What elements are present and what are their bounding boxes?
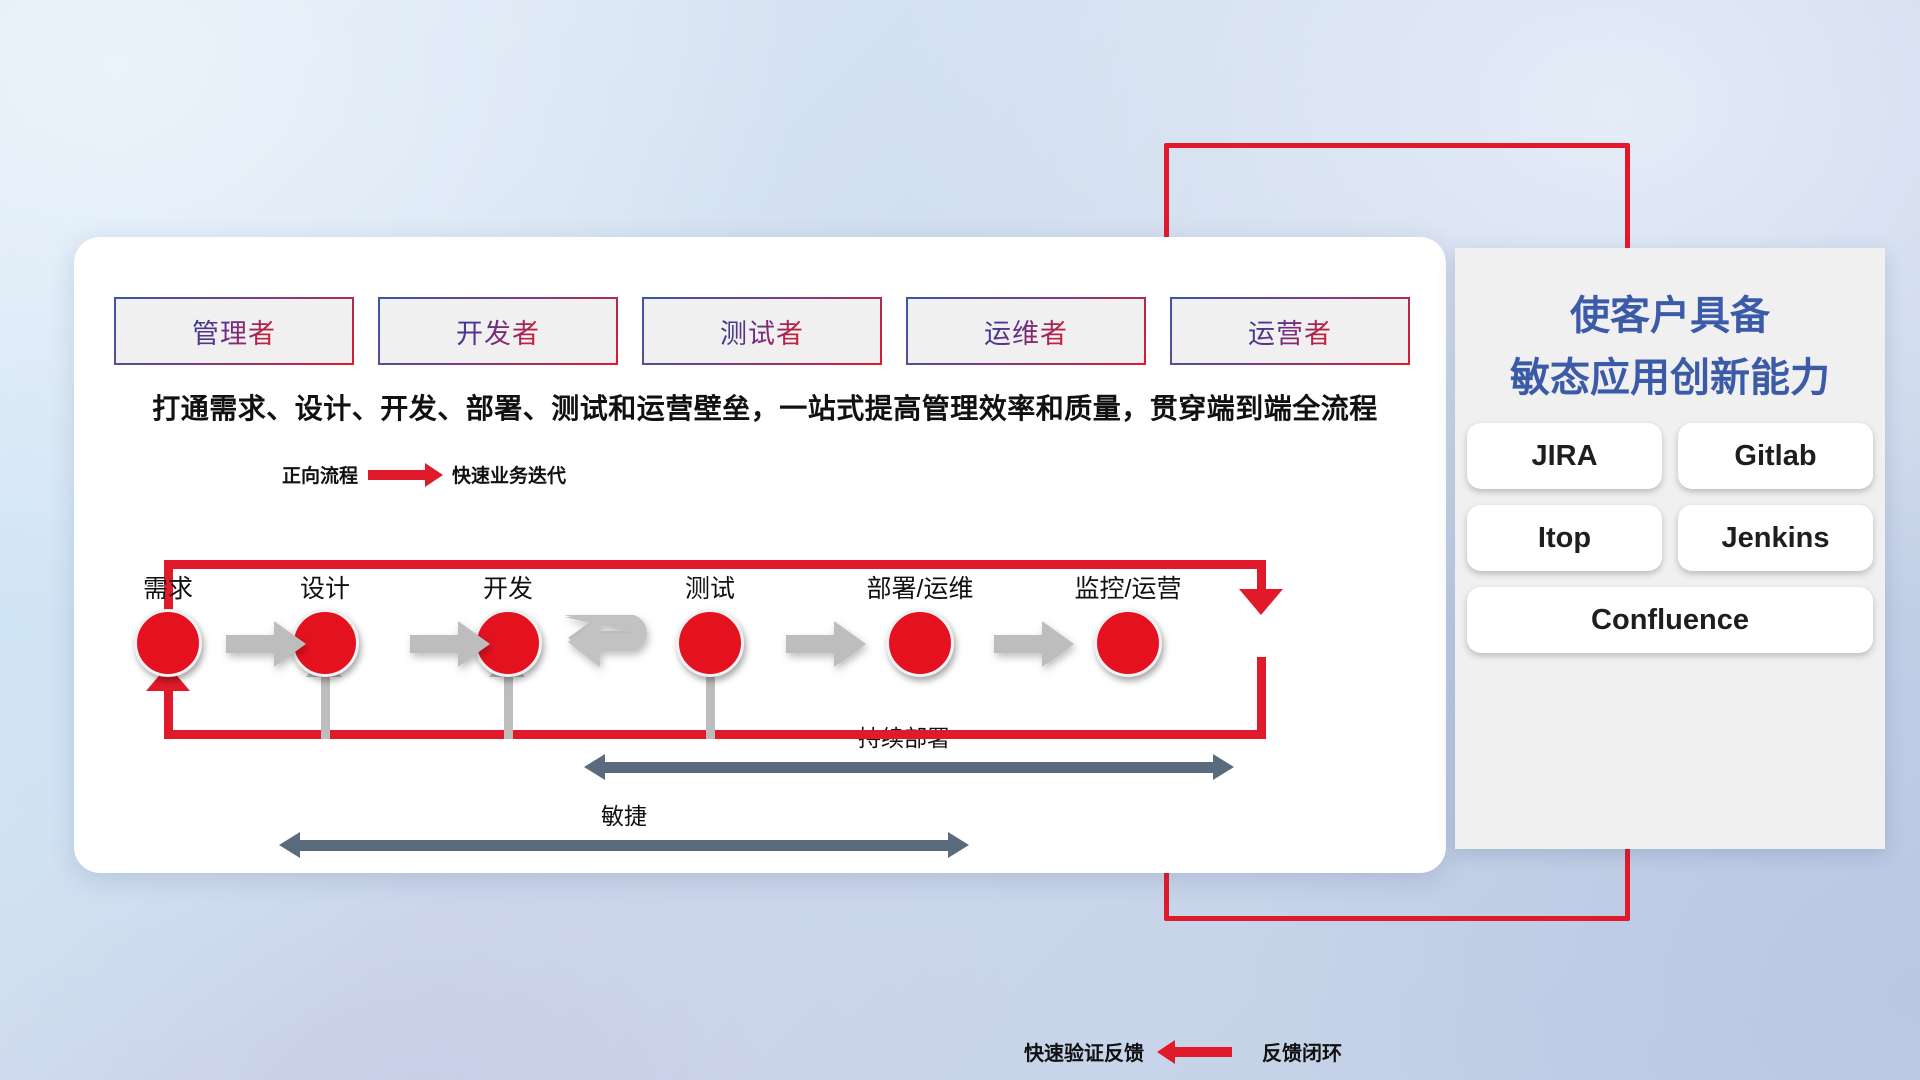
forward-flow-legend: 正向流程 快速业务迭代	[282, 461, 566, 488]
tool-pill-gitlab[interactable]: Gitlab	[1678, 423, 1873, 489]
connector-arrow-icon	[226, 619, 308, 669]
role-box-tester[interactable]: 测试者	[642, 297, 882, 365]
headline-text: 打通需求、设计、开发、部署、测试和运营壁垒，一站式提高管理效率和质量，贯穿端到端…	[120, 387, 1410, 427]
stage-stem-monitor	[1257, 657, 1266, 739]
role-box-inner: 管理者	[116, 299, 352, 363]
role-box-developer[interactable]: 开发者	[378, 297, 618, 365]
role-box-row: 管理者 开发者 测试者 运维者 运营者	[114, 297, 1410, 365]
stage-label: 部署/运维	[867, 569, 974, 605]
loop-rail-left-stem	[164, 689, 173, 739]
role-label: 运维者	[984, 312, 1068, 351]
stage-dot	[1094, 609, 1162, 677]
connector-arrow-icon	[994, 619, 1076, 669]
stage-label: 设计	[300, 569, 350, 605]
stage-stem-design	[321, 675, 330, 739]
connector-arrow-icon	[410, 619, 492, 669]
band-arrow-continuous-deployment	[604, 762, 1214, 773]
stage-label: 需求	[143, 569, 193, 605]
stage-dot	[134, 609, 202, 677]
role-label: 测试者	[720, 312, 804, 351]
role-box-inner: 开发者	[380, 299, 616, 363]
role-box-operations[interactable]: 运营者	[1170, 297, 1410, 365]
feedback-right-label: 反馈闭环	[1262, 1037, 1342, 1066]
role-box-inner: 运营者	[1172, 299, 1408, 363]
loop-arrowhead-down	[1239, 589, 1283, 615]
stage-label: 开发	[483, 569, 533, 605]
tool-pill-list: JIRA Gitlab Itop Jenkins Confluence	[1467, 423, 1873, 653]
stage-stem-develop	[504, 675, 513, 739]
pipeline-stage-requirement[interactable]: 需求	[134, 609, 202, 677]
role-label: 开发者	[456, 312, 540, 351]
tool-pill-jira[interactable]: JIRA	[1467, 423, 1662, 489]
pipeline-stage-test[interactable]: 测试	[676, 609, 744, 677]
connector-arrow-icon	[786, 619, 868, 669]
panel-title-line1: 使客户具备	[1455, 283, 1885, 341]
tool-pill-confluence[interactable]: Confluence	[1467, 587, 1873, 653]
role-box-inner: 运维者	[908, 299, 1144, 363]
role-box-ops[interactable]: 运维者	[906, 297, 1146, 365]
role-label: 管理者	[192, 312, 276, 351]
role-box-manager[interactable]: 管理者	[114, 297, 354, 365]
arrow-right-icon	[368, 470, 426, 480]
loop-back-icon	[564, 605, 668, 677]
role-box-inner: 测试者	[644, 299, 880, 363]
role-label: 运营者	[1248, 312, 1332, 351]
feedback-legend: 快速验证反馈 反馈闭环	[1024, 1037, 1342, 1066]
loop-rail-top	[164, 560, 1266, 569]
band-arrow-agile	[299, 840, 949, 851]
arrow-left-icon	[1174, 1047, 1232, 1057]
pipeline-stage-monitor-operate[interactable]: 监控/运营	[1094, 609, 1162, 677]
stage-label: 监控/运营	[1075, 569, 1182, 605]
tool-pill-itop[interactable]: Itop	[1467, 505, 1662, 571]
tool-pill-jenkins[interactable]: Jenkins	[1678, 505, 1873, 571]
pipeline-stage-deploy-ops[interactable]: 部署/运维	[886, 609, 954, 677]
forward-flow-left-label: 正向流程	[282, 461, 358, 488]
panel-title-line2: 敏态应用创新能力	[1455, 345, 1885, 403]
band-label-agile: 敏捷	[414, 797, 834, 831]
devops-overview-card: 管理者 开发者 测试者 运维者 运营者 打通需求、设计、开发、部署、测试和运营壁…	[74, 237, 1446, 873]
stage-dot	[676, 609, 744, 677]
feedback-left-label: 快速验证反馈	[1024, 1037, 1144, 1066]
forward-flow-right-label: 快速业务迭代	[452, 461, 566, 488]
capability-panel: 使客户具备 敏态应用创新能力 JIRA Gitlab Itop Jenkins …	[1455, 248, 1885, 849]
stage-label: 测试	[685, 569, 735, 605]
stage-dot	[886, 609, 954, 677]
